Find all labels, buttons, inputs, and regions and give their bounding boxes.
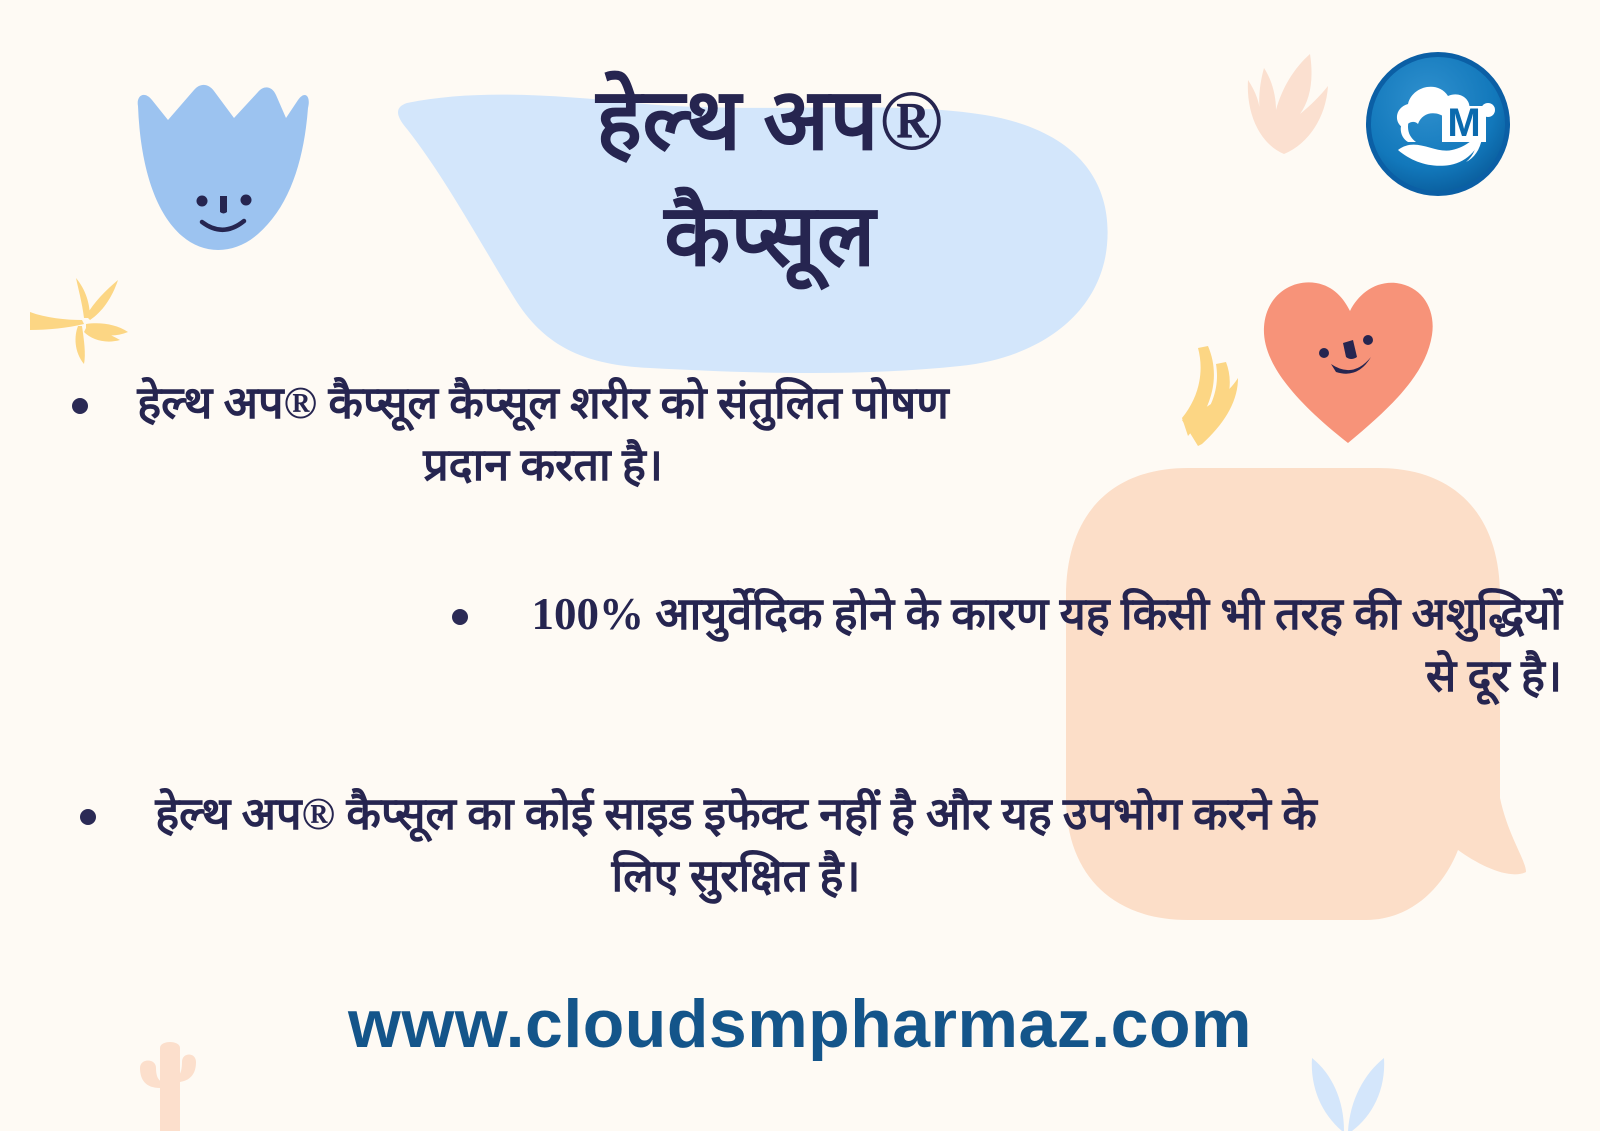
bullet-text-2: 100% आयुर्वेदिक होने के कारण यह किसी भी … (494, 583, 1562, 707)
cloudsm-pharmaz-logo-icon[interactable]: M (1364, 50, 1512, 198)
bullet-marker-icon (80, 809, 96, 825)
website-url[interactable]: www.cloudsmpharmaz.com (0, 985, 1600, 1063)
bullet-text-1: हेल्थ अप® कैप्सूल कैप्सूल शरीर को संतुलि… (114, 372, 972, 496)
bullet-marker-icon (72, 398, 88, 414)
title-line-1: हेल्थ अप® (400, 62, 1140, 178)
bullet-marker-icon (452, 609, 468, 625)
page-title: हेल्थ अप® कैप्सूल (400, 62, 1140, 294)
bullet-item-2: 100% आयुर्वेदिक होने के कारण यह किसी भी … (452, 583, 1562, 707)
title-line-2: कैप्सूल (400, 178, 1140, 294)
bullet-item-1: हेल्थ अप® कैप्सूल कैप्सूल शरीर को संतुलि… (72, 372, 972, 496)
bullet-item-3: हेल्थ अप® कैप्सूल का कोई साइड इफेक्ट नही… (80, 783, 1350, 907)
content-layer: M हेल्थ अप® कैप्सूल हेल्थ अप® कैप्सूल कै… (0, 0, 1600, 1131)
poster-canvas: M हेल्थ अप® कैप्सूल हेल्थ अप® कैप्सूल कै… (0, 0, 1600, 1131)
bullet-text-3: हेल्थ अप® कैप्सूल का कोई साइड इफेक्ट नही… (122, 783, 1350, 907)
logo-letter: M (1447, 101, 1480, 145)
